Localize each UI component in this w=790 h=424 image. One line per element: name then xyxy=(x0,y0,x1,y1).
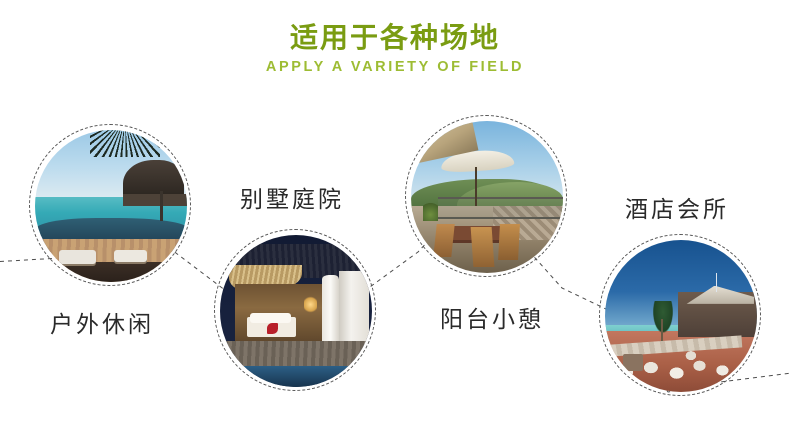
venue-photo-balcony-rest xyxy=(411,121,563,273)
deck-shadow xyxy=(35,262,187,282)
umbrella-pole xyxy=(475,167,477,207)
lamp-glow xyxy=(304,296,318,313)
lounge-chair xyxy=(59,250,95,264)
pillows xyxy=(250,313,291,324)
thatched-hut xyxy=(123,160,184,193)
curtain xyxy=(339,271,369,344)
venue-node-balcony-rest[interactable] xyxy=(405,115,569,279)
scene-villa-bedroom xyxy=(220,235,372,387)
venue-node-outdoor-leisure[interactable] xyxy=(29,124,193,288)
venue-diagram: 户外休闲 别墅庭院 阳台小憩 酒店会所 xyxy=(0,0,790,424)
patio-chair xyxy=(470,227,494,267)
venue-label-outdoor-leisure: 户外休闲 xyxy=(50,305,154,339)
venue-label-balcony-rest: 阳台小憩 xyxy=(440,300,544,334)
venue-photo-hotel-club xyxy=(605,240,757,392)
hut-deck xyxy=(123,194,187,206)
potted-plant xyxy=(423,200,438,221)
pool-water xyxy=(220,366,372,387)
patio-chair xyxy=(498,224,520,260)
venue-photo-villa-courtyard xyxy=(220,235,372,387)
curtain xyxy=(322,275,339,348)
scene-beach-club xyxy=(605,240,757,392)
outdoor-table xyxy=(623,354,643,371)
scene-infinity-pool xyxy=(35,130,187,282)
flag-mast xyxy=(716,273,717,291)
venue-label-hotel-club: 酒店会所 xyxy=(625,190,729,224)
venue-node-villa-courtyard[interactable] xyxy=(214,229,378,393)
hut-post xyxy=(160,191,163,221)
scene-terrace xyxy=(411,121,563,273)
venue-photo-outdoor-leisure xyxy=(35,130,187,282)
flower-petals xyxy=(267,323,278,334)
wood-floor xyxy=(220,341,372,367)
balcony-railing xyxy=(438,197,563,219)
venue-label-villa-courtyard: 别墅庭院 xyxy=(240,180,344,214)
palm-fronds xyxy=(90,130,160,157)
lounge-chair xyxy=(114,250,147,262)
venue-node-hotel-club[interactable] xyxy=(599,234,763,398)
